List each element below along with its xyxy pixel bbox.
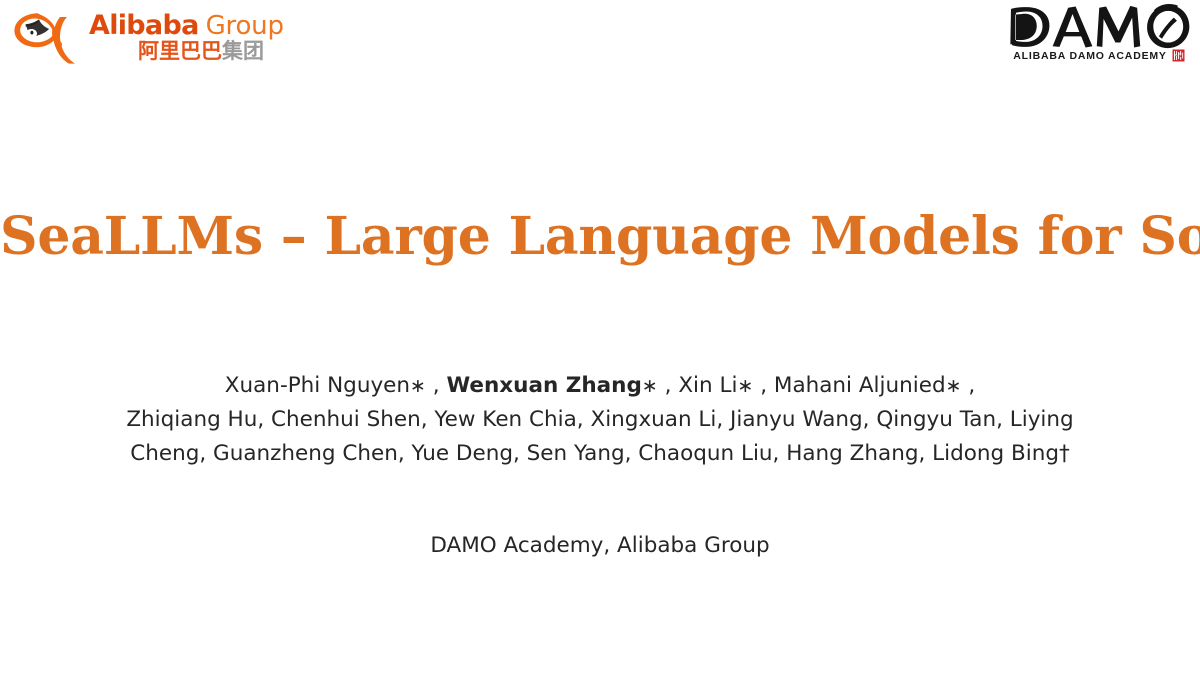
alibaba-word-alibaba: Alibaba [89, 12, 199, 39]
author-name-xuan-phi-nguyen: Xuan-Phi Nguyen [225, 373, 410, 398]
author-line-2: Zhiqiang Hu, Chenhui Shen, Yew Ken Chia,… [0, 403, 1200, 437]
alibaba-word-group: Group [206, 13, 284, 39]
author-sep-4: , [962, 373, 976, 398]
author-name-xin-li: Xin Li [678, 373, 737, 398]
author-sep-3: , [753, 373, 774, 398]
author-list: Xuan-Phi Nguyen∗ , Wenxuan Zhang∗ , Xin … [0, 369, 1200, 471]
author-line-3: Cheng, Guanzheng Chen, Yue Deng, Sen Yan… [0, 437, 1200, 471]
alibaba-swoosh-icon: R [13, 10, 85, 66]
damo-brush-wordmark-icon [1006, 4, 1192, 50]
alibaba-wordmark: Alibaba Group [89, 9, 284, 39]
author-sep-2: , [658, 373, 679, 398]
author-star-2: ∗ [642, 375, 658, 397]
author-star-4: ∗ [946, 375, 962, 397]
svg-text:R: R [57, 42, 60, 48]
author-name-wenxuan-zhang: Wenxuan Zhang [446, 373, 641, 398]
alibaba-wordmark-chinese: 阿里巴巴 集团 [138, 41, 264, 62]
author-star-3: ∗ [737, 375, 753, 397]
author-sep-1: , [426, 373, 447, 398]
affiliation-text: DAMO Academy, Alibaba Group [0, 533, 1200, 558]
presentation-title-slide: R Alibaba Group 阿里巴巴 集团 [0, 0, 1200, 674]
alibaba-chinese-gray: 集团 [222, 41, 264, 62]
damo-subtitle-row: ALIBABA DAMO ACADEMY [1006, 49, 1192, 62]
damo-academy-logo: ALIBABA DAMO ACADEMY [1006, 4, 1192, 76]
author-name-mahani-aljunied: Mahani Aljunied [774, 373, 946, 398]
page-title: SeaLLMs – Large Language Models for Sout… [0, 209, 1200, 265]
author-line-1: Xuan-Phi Nguyen∗ , Wenxuan Zhang∗ , Xin … [0, 369, 1200, 403]
red-seal-stamp-icon [1172, 49, 1185, 62]
alibaba-wordmark-latin: Alibaba Group [89, 12, 284, 39]
alibaba-chinese-orange: 阿里巴巴 [138, 41, 222, 62]
author-star-1: ∗ [410, 375, 426, 397]
damo-subtitle-text: ALIBABA DAMO ACADEMY [1013, 50, 1166, 62]
